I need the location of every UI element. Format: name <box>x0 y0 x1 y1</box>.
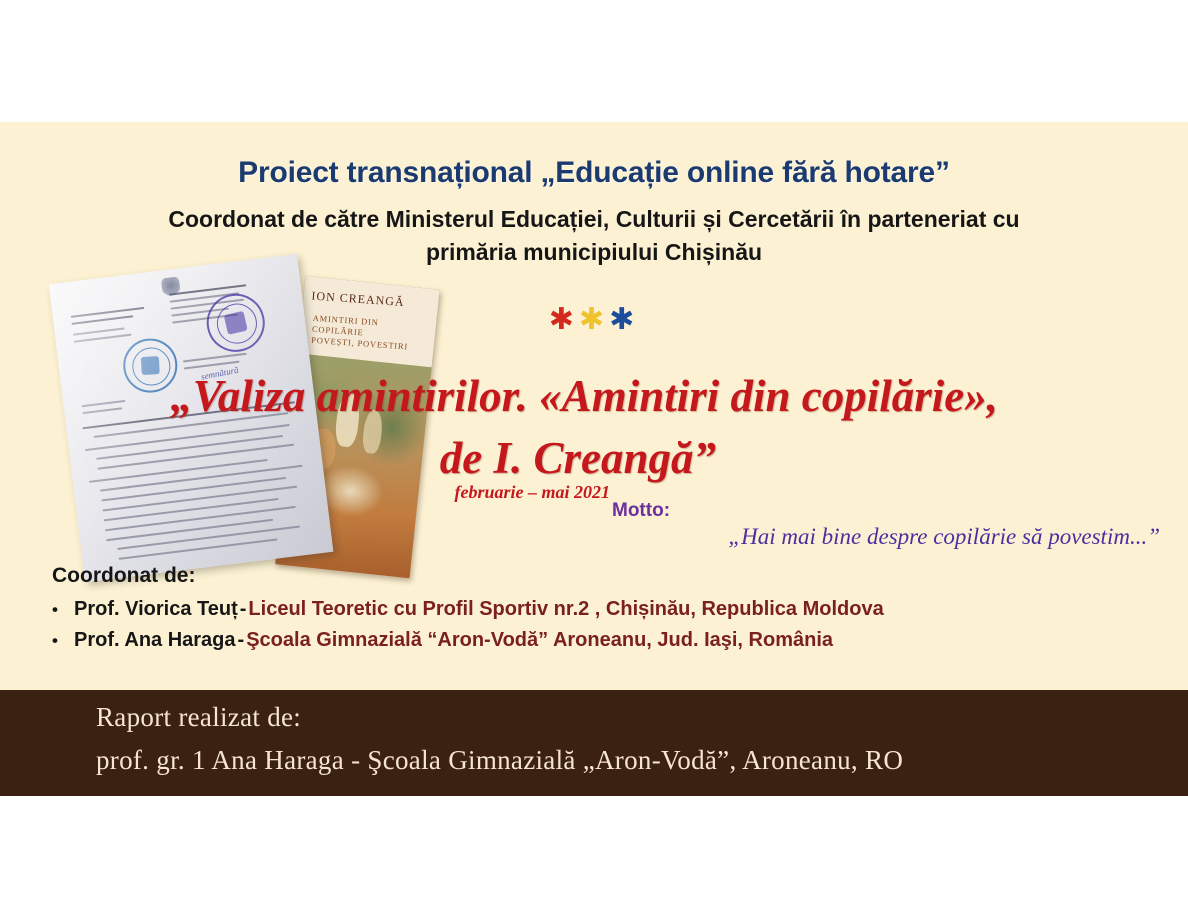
work-date-range: februarie – mai 2021 <box>300 482 610 503</box>
coordinators-heading: Coordonat de: <box>52 564 1152 588</box>
name-org-separator: - <box>236 625 247 655</box>
motto-label: Motto: <box>612 500 670 522</box>
asterisk-yellow-icon: ✱ <box>579 302 609 337</box>
page-title: Proiect transnațional „Educație online f… <box>0 156 1188 190</box>
work-title: „Valiza amintirilor. «Amintiri din copil… <box>168 365 998 489</box>
coordinator-name: Prof. Ana Haraga <box>74 625 236 655</box>
bullet-icon: • <box>52 626 74 656</box>
asterisk-blue-icon: ✱ <box>609 302 639 337</box>
bullet-icon: • <box>52 595 74 625</box>
motto-text: „Hai mai bine despre copilărie să povest… <box>575 524 1160 550</box>
slide-root: Proiect transnațional „Educație online f… <box>0 0 1188 918</box>
coordinator-organisation: Şcoala Gimnazială “Aron-Vodă” Aroneanu, … <box>246 625 833 655</box>
asterisk-red-icon: ✱ <box>549 302 579 337</box>
coordinators-block: Coordonat de: • Prof. Viorica Teuț - Lic… <box>52 564 1152 656</box>
report-author-heading: Raport realizat de: <box>96 702 301 733</box>
report-author-details: prof. gr. 1 Ana Haraga - Şcoala Gimnazia… <box>96 745 903 776</box>
name-org-separator: - <box>238 594 249 624</box>
subtitle-block: Coordonat de către Ministerul Educației,… <box>84 203 1104 269</box>
coordinator-organisation: Liceul Teoretic cu Profil Sportiv nr.2 ,… <box>248 594 883 624</box>
list-item: • Prof. Viorica Teuț - Liceul Teoretic c… <box>52 594 1152 625</box>
work-title-line-1: „Valiza amintirilor. «Amintiri din copil… <box>170 371 998 421</box>
coordinator-name: Prof. Viorica Teuț <box>74 594 238 624</box>
subtitle-line-1: Coordonat de către Ministerul Educației,… <box>84 203 1104 236</box>
work-title-line-2: de I. Creangă” <box>168 427 998 489</box>
list-item: • Prof. Ana Haraga - Şcoala Gimnazială “… <box>52 625 1152 656</box>
